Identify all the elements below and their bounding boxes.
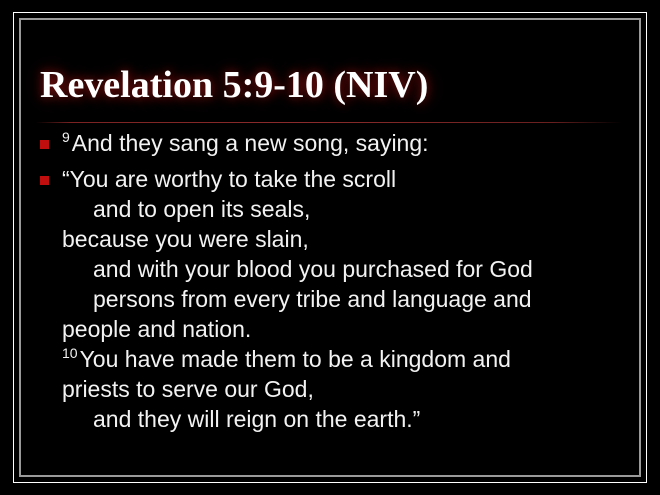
title-divider-rule (36, 122, 622, 123)
scripture-line: because you were slain, (62, 224, 632, 254)
scripture-line: and to open its seals, (62, 194, 632, 224)
verse-number-superscript: 9 (62, 129, 72, 145)
scripture-line: priests to serve our God, (62, 374, 632, 404)
square-bullet-icon (40, 140, 49, 149)
bullet-paragraph: 9And they sang a new song, saying: (36, 128, 632, 158)
slide-title: Revelation 5:9-10 (NIV) (40, 63, 620, 107)
scripture-line: and with your blood you purchased for Go… (62, 254, 632, 284)
scripture-line: “You are worthy to take the scroll (62, 164, 632, 194)
scripture-line: persons from every tribe and language an… (62, 284, 632, 314)
scripture-line: people and nation. (62, 314, 632, 344)
slide-body-text: 9And they sang a new song, saying:“You a… (36, 128, 632, 440)
square-bullet-icon (40, 176, 49, 185)
scripture-line: 10You have made them to be a kingdom and (62, 344, 632, 374)
presentation-slide: Revelation 5:9-10 (NIV) 9And they sang a… (0, 0, 660, 495)
verse-number-superscript: 10 (62, 345, 80, 361)
bullet-paragraph: “You are worthy to take the scrolland to… (36, 164, 632, 434)
scripture-line: and they will reign on the earth.” (62, 404, 632, 434)
scripture-line: 9And they sang a new song, saying: (62, 128, 632, 158)
